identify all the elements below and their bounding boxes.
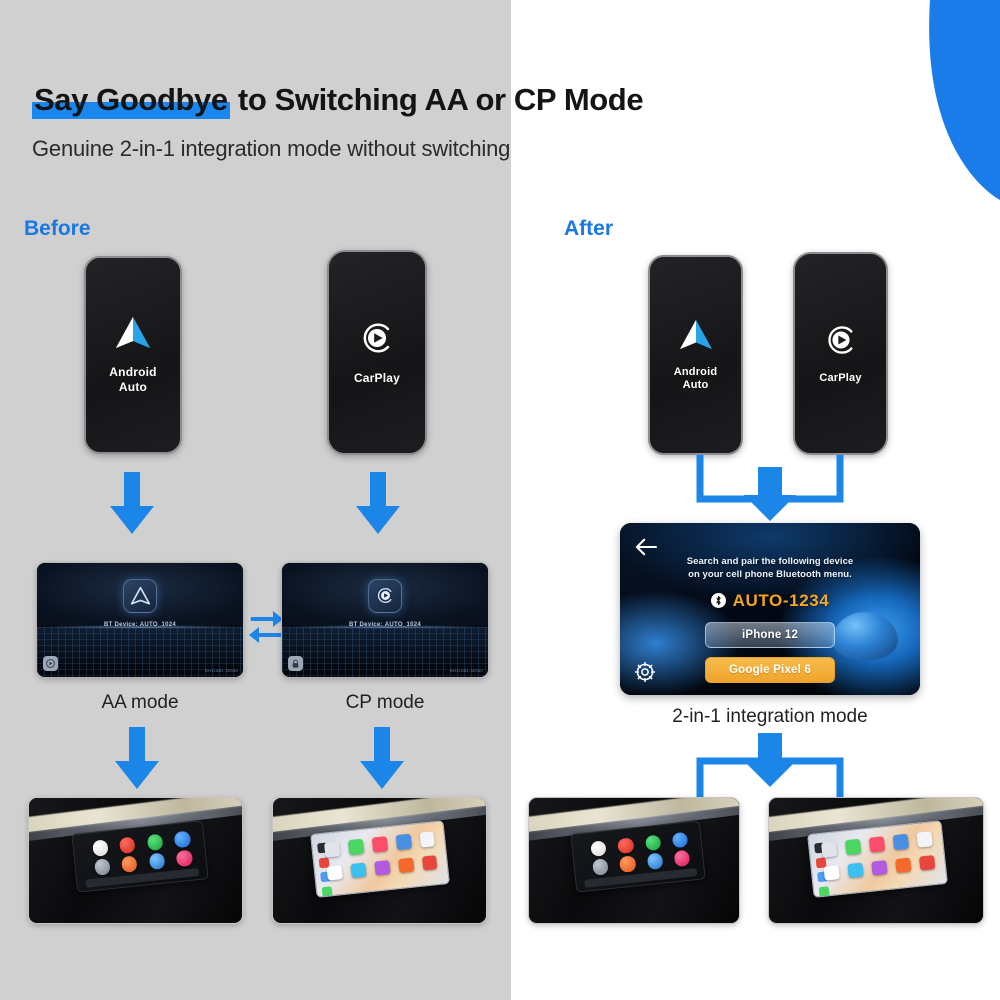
pairing-instruction-line2: on your cell phone Bluetooth menu. — [688, 569, 852, 580]
integration-mode-caption: 2-in-1 integration mode — [620, 706, 920, 728]
headunit-serial: BH110B1.32940 — [450, 668, 483, 673]
gear-icon[interactable] — [632, 659, 658, 685]
before-column-label: Before — [24, 217, 91, 241]
pairing-headunit-screen: Search and pair the following device on … — [620, 523, 920, 695]
cp-mode-caption: CP mode — [281, 692, 489, 714]
pairing-instruction: Search and pair the following device on … — [687, 555, 854, 582]
bluetooth-icon — [711, 593, 726, 608]
carplay-logo-icon — [823, 322, 859, 363]
phone-caption: AndroidAuto — [674, 366, 718, 393]
down-arrow-icon — [358, 727, 406, 791]
headunit-serial: BH110B1.32940 — [205, 668, 238, 673]
phone-caption: AndroidAuto — [109, 365, 156, 394]
headunit-aa-mode: BT Device: AUTO_1024 BH110B1.32940 — [36, 562, 244, 678]
android-auto-dashboard-photo — [528, 797, 740, 924]
headline-rest: to Switching AA or CP Mode — [230, 82, 643, 117]
header-block: Say Goodbye to Switching AA or CP Mode G… — [32, 82, 792, 162]
down-arrow-icon — [108, 472, 156, 536]
down-arrow-icon — [113, 727, 161, 791]
play-icon[interactable] — [43, 656, 58, 671]
page-title: Say Goodbye to Switching AA or CP Mode — [32, 82, 792, 118]
phone-android-auto-after: AndroidAuto — [648, 255, 743, 455]
merge-down-arrow-icon — [640, 455, 900, 523]
carplay-dashboard-photo — [272, 797, 487, 924]
headunit-cp-mode: BT Device: AUTO_1024 BH110B1.32940 — [281, 562, 489, 678]
phone-caption: CarPlay — [354, 371, 400, 386]
carplay-dashboard-photo — [768, 797, 984, 924]
phone-carplay-before: CarPlay — [327, 250, 427, 455]
bt-device-text: BT Device: AUTO_1024 — [349, 622, 421, 628]
page-subtitle: Genuine 2-in-1 integration mode without … — [32, 136, 792, 162]
android-auto-logo-icon — [678, 318, 714, 357]
after-column-label: After — [564, 217, 613, 241]
headline-highlight: Say Goodbye — [32, 82, 230, 118]
phone-android-auto-before: AndroidAuto — [84, 256, 182, 454]
bt-device-text: BT Device: AUTO_1024 — [104, 622, 176, 628]
android-auto-tile-icon — [123, 579, 157, 613]
lock-icon[interactable] — [288, 656, 303, 671]
android-auto-dashboard-photo — [28, 797, 243, 924]
device-id-row: AUTO-1234 — [711, 591, 830, 611]
carplay-tile-icon — [368, 579, 402, 613]
down-arrow-icon — [354, 472, 402, 536]
device-id-value: AUTO-1234 — [733, 591, 830, 611]
aa-mode-caption: AA mode — [36, 692, 244, 714]
phone-caption: CarPlay — [819, 372, 861, 385]
device-button-google-pixel-6[interactable]: Google Pixel 6 — [705, 657, 835, 683]
android-auto-logo-icon — [114, 315, 152, 356]
device-button-iphone-12[interactable]: iPhone 12 — [705, 622, 835, 648]
carplay-logo-icon — [358, 319, 396, 362]
pairing-instruction-line1: Search and pair the following device — [687, 556, 854, 567]
phone-carplay-after: CarPlay — [793, 252, 888, 455]
blue-corner-decoration — [880, 0, 1000, 200]
split-down-arrow-icon — [640, 733, 900, 805]
